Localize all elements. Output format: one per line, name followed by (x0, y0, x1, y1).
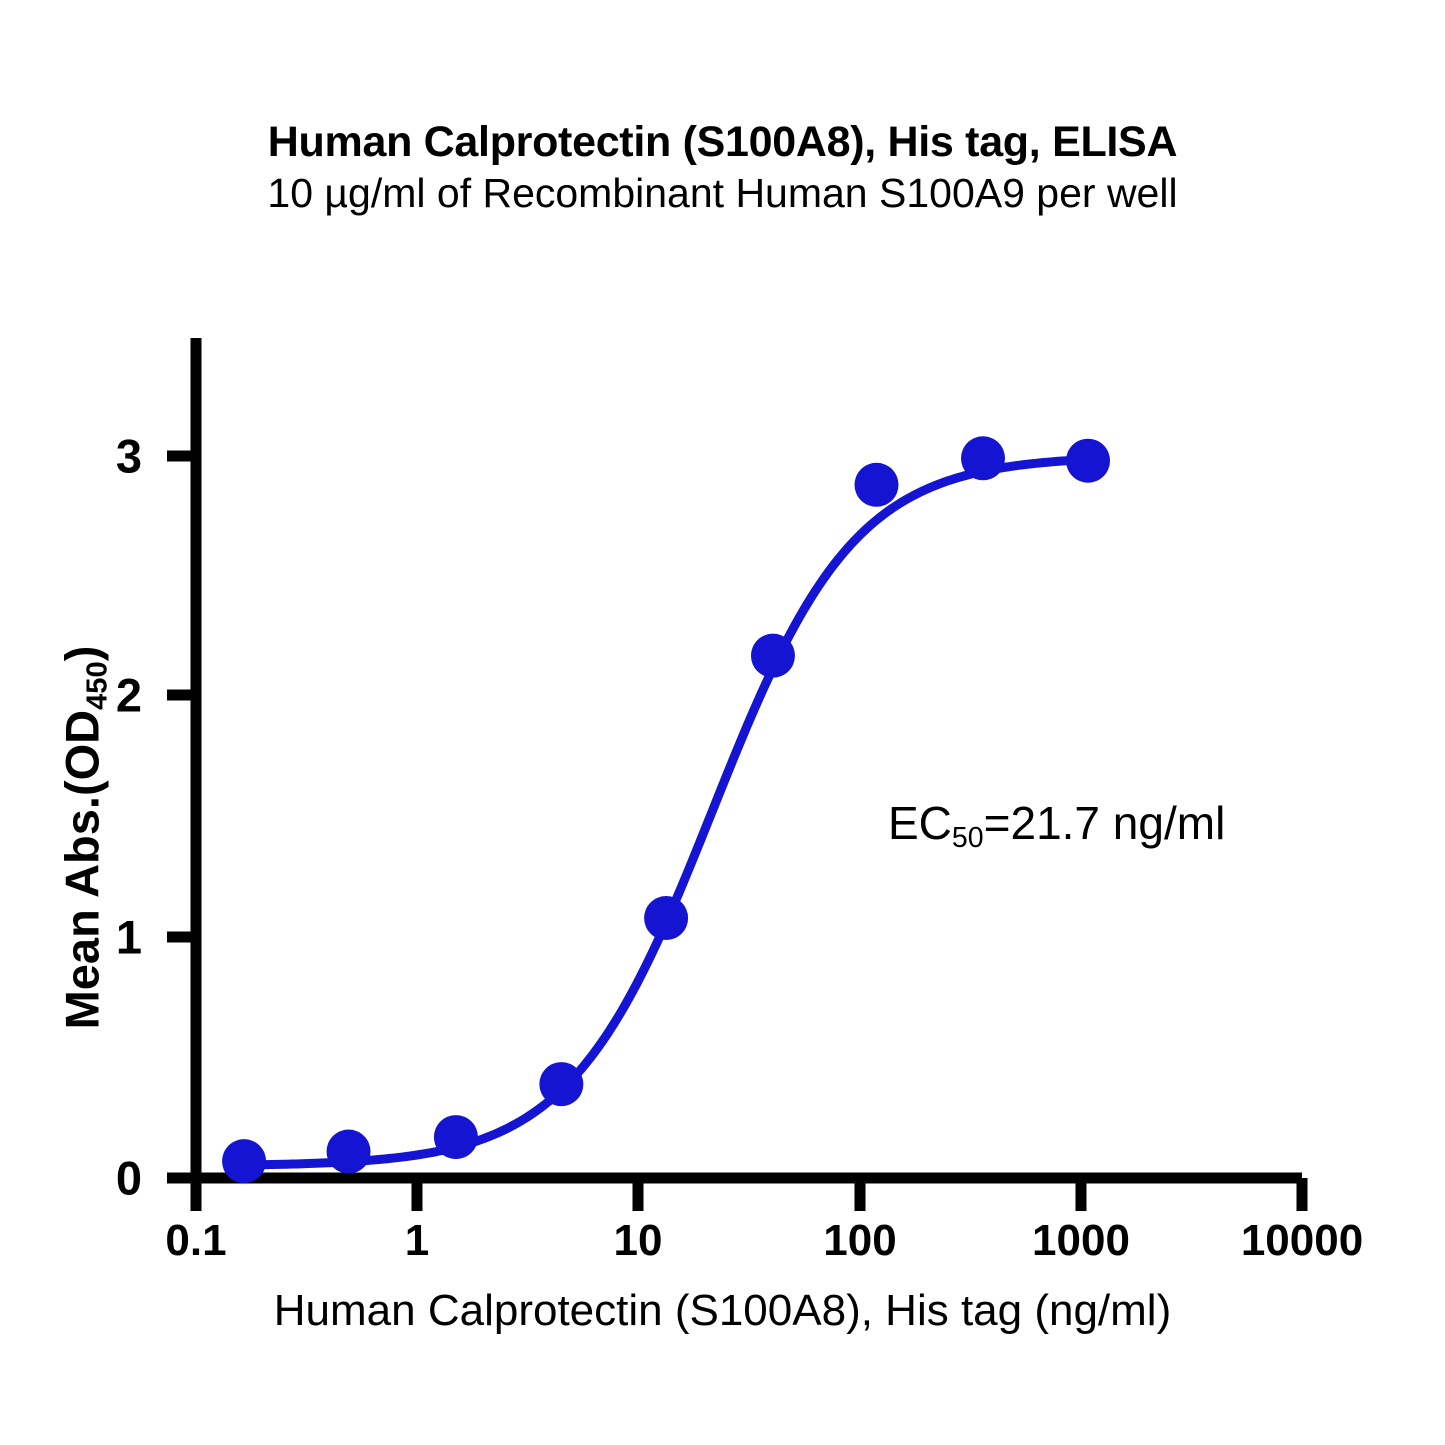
ec50-annotation: EC50=21.7 ng/ml (888, 796, 1225, 850)
data-point (961, 436, 1005, 480)
xtick-label-10000: 10000 (1241, 1216, 1363, 1266)
xtick-label-1000: 1000 (1032, 1216, 1130, 1266)
figure-canvas: Human Calprotectin (S100A8), His tag, EL… (0, 0, 1445, 1445)
data-point (751, 634, 795, 678)
data-point (644, 896, 688, 940)
data-point (327, 1130, 371, 1174)
xtick-label-0p1: 0.1 (165, 1216, 226, 1266)
ec50-prefix: EC (888, 797, 952, 849)
data-point (539, 1062, 583, 1106)
y-axis-title-subscript: 450 (82, 661, 114, 710)
axis-lines (190, 338, 1302, 1178)
ytick-label-3: 3 (52, 429, 142, 484)
xtick-label-100: 100 (823, 1216, 896, 1266)
ec50-value: =21.7 ng/ml (984, 797, 1226, 849)
data-point (434, 1115, 478, 1159)
data-point (222, 1139, 266, 1183)
data-point (1066, 439, 1110, 483)
y-axis-title-prefix: Mean Abs.(OD (56, 710, 109, 1029)
ec50-subscript: 50 (952, 822, 984, 854)
xtick-label-1: 1 (405, 1216, 429, 1266)
y-axis-title-suffix: ) (56, 646, 109, 662)
data-point (855, 463, 899, 507)
x-axis-title: Human Calprotectin (S100A8), His tag (ng… (0, 1286, 1445, 1336)
y-axis-title: Mean Abs.(OD450) (55, 488, 110, 1188)
xtick-label-10: 10 (614, 1216, 663, 1266)
